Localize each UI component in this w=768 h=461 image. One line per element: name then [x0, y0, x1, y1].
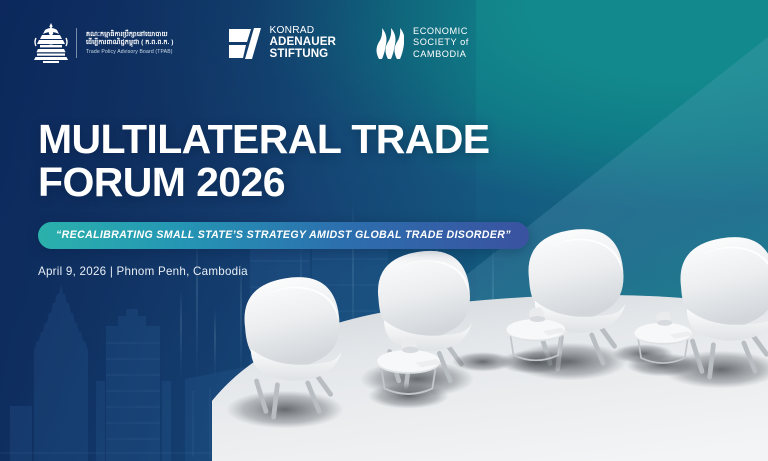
event-title-line-2: FORUM 2026 [38, 161, 529, 204]
event-banner: គណៈកម្មាធិការប្រឹក្សានៅយោបាយ ដើម្បីការពា… [0, 0, 768, 461]
cambodia-royal-crest-icon [34, 22, 68, 64]
event-date-location: April 9, 2026 | Phnom Penh, Cambodia [38, 265, 529, 278]
logo-kas: KONRAD ADENAUER STIFTUNG [228, 26, 337, 60]
event-tagline-pill: “RECALIBRATING SMALL STATE’S STRATEGY AM… [38, 222, 529, 249]
esc-line-1: ECONOMIC [413, 26, 469, 37]
flame-mark-icon [374, 26, 404, 60]
tpab-english-name: Trade Policy Advisory Board (TPAB) [86, 49, 174, 55]
kas-flag-mark-icon [228, 27, 262, 60]
kas-line-3: STIFTUNG [270, 48, 337, 60]
esc-line-3: CAMBODIA [413, 49, 469, 60]
tpab-khmer-line-1: គណៈកម្មាធិការប្រឹក្សានៅយោបាយ [86, 31, 174, 39]
logo-divider [76, 28, 77, 58]
event-title-line-1: MULTILATERAL TRADE [38, 118, 529, 161]
logo-tpab: គណៈកម្មាធិការប្រឹក្សានៅយោបាយ ដើម្បីការពា… [34, 22, 174, 64]
headline-block: MULTILATERAL TRADE FORUM 2026 “RECALIBRA… [38, 118, 529, 278]
tpab-khmer-line-2: ដើម្បីការពាណិជ្ជកម្ពុជា ( ក.ព.ព.ក. ) [86, 39, 174, 47]
logo-economic-society-cambodia: ECONOMIC SOCIETY of CAMBODIA [374, 26, 469, 60]
partner-logo-row: គណៈកម្មាធិការប្រឹក្សានៅយោបាយ ដើម្បីការពា… [34, 22, 469, 64]
esc-line-2: SOCIETY of [413, 37, 469, 48]
